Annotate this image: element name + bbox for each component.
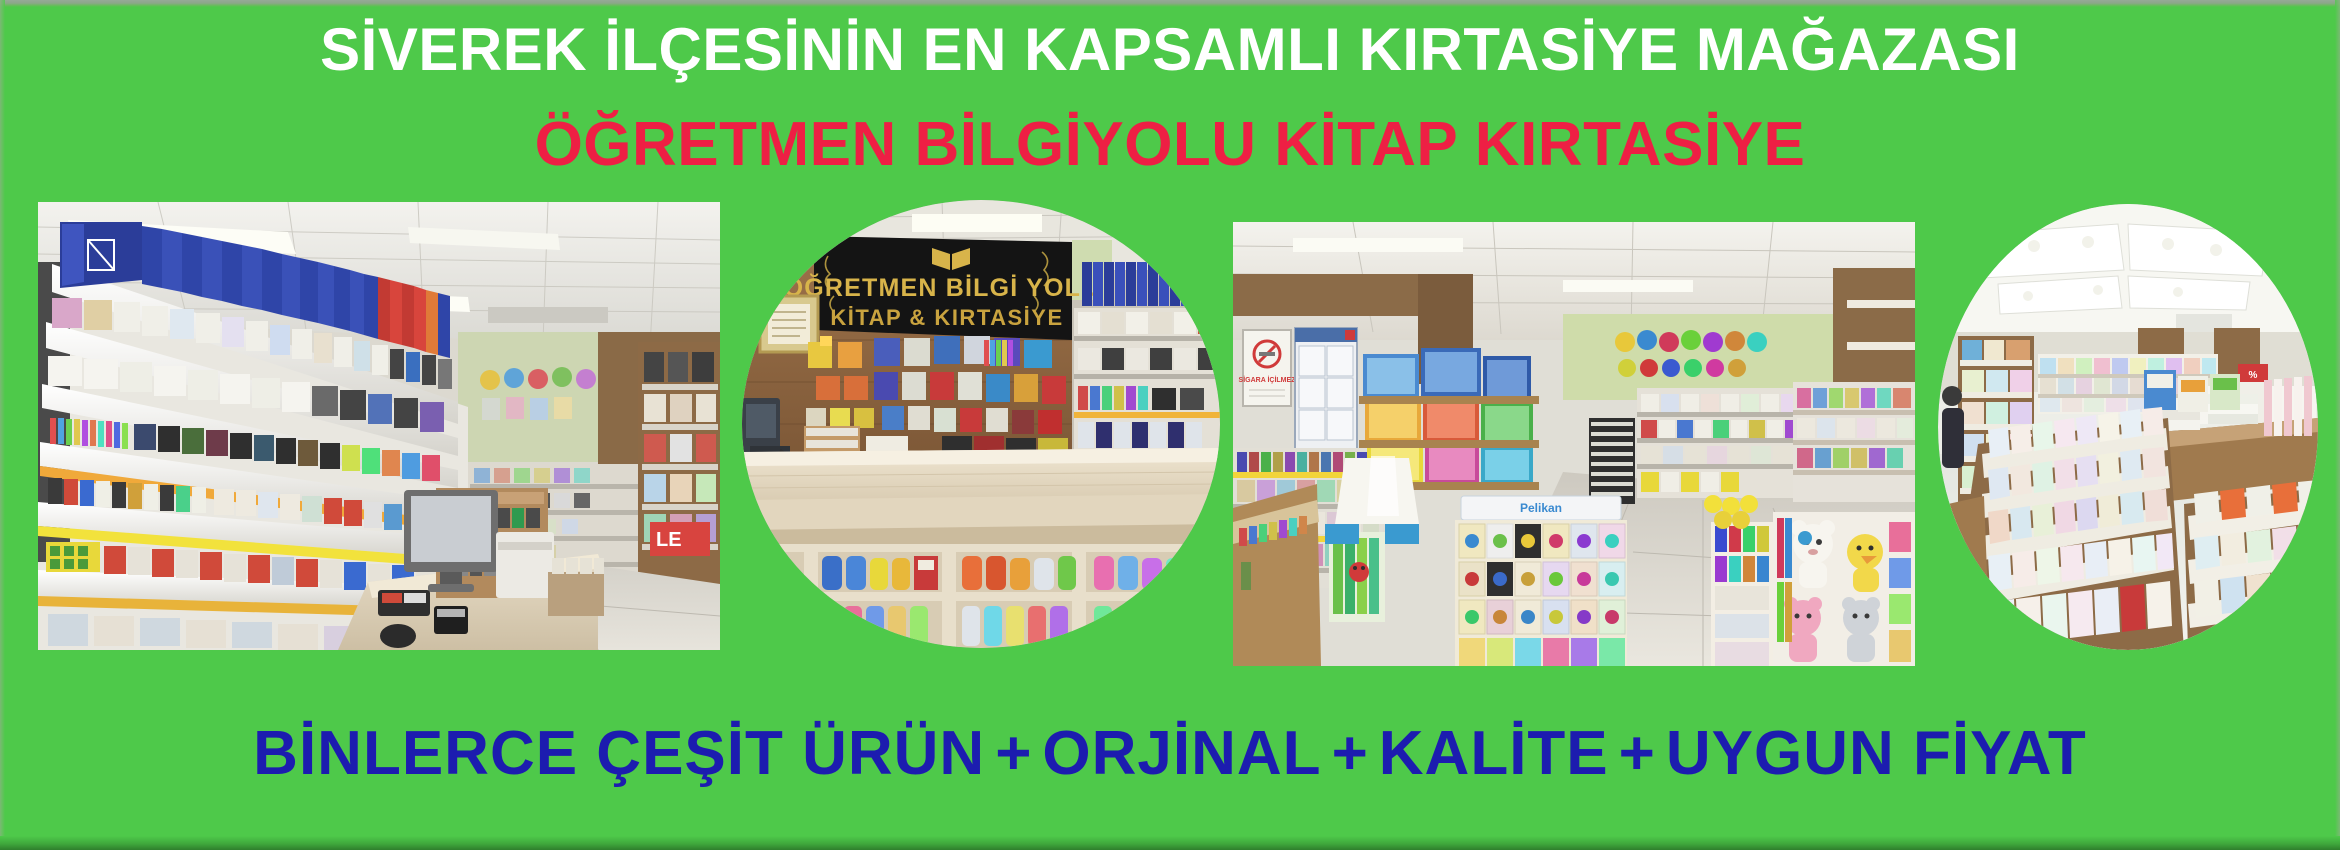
tagline-part-2: ORJİNAL (1042, 719, 1321, 788)
store-photo-stationery-aisle: LE (38, 202, 720, 650)
svg-text:LE: LE (656, 529, 682, 551)
svg-text:%: % (2249, 370, 2258, 381)
advertisement-banner: SİVEREK İLÇESİNİN EN KAPSAMLI KIRTASİYE … (0, 0, 2340, 850)
svg-text:Pelikan: Pelikan (1520, 501, 1562, 515)
headline-store-name: ÖĞRETMEN BİLGİYOLU KİTAP KIRTASİYE (0, 110, 2340, 180)
store-photo-counter-sign: ÖĞRETMEN BİLGİ YOLU KİTAP & KIRTASİYE (742, 200, 1220, 648)
counter-sign-illustration: ÖĞRETMEN BİLGİ YOLU KİTAP & KIRTASİYE (742, 200, 1220, 648)
banner-top-edge (0, 0, 2340, 7)
tagline-block: BİNLERCE ÇEŞİT ÜRÜN+ORJİNAL+KALİTE+UYGUN… (0, 718, 2340, 790)
svg-text:SİGARA İÇİLMEZ: SİGARA İÇİLMEZ (1239, 376, 1297, 384)
stationery-aisle-illustration: LE (38, 202, 720, 650)
book-section-illustration: % (1938, 204, 2318, 650)
svg-text:KİTAP & KIRTASİYE: KİTAP & KIRTASİYE (830, 305, 1063, 330)
tagline-separator-3: + (1609, 719, 1666, 788)
tagline-part-4: UYGUN FİYAT (1666, 719, 2087, 788)
tagline-separator-1: + (985, 719, 1042, 788)
tagline-separator-2: + (1322, 719, 1379, 788)
svg-text:ÖĞRETMEN BİLGİ YOLU: ÖĞRETMEN BİLGİ YOLU (784, 273, 1101, 302)
store-photo-toy-aisle: SİGARA İÇİLMEZ (1233, 222, 1915, 666)
banner-bottom-edge (0, 836, 2340, 850)
headline-primary: SİVEREK İLÇESİNİN EN KAPSAMLI KIRTASİYE … (0, 16, 2340, 84)
store-photo-book-section: % (1938, 204, 2318, 650)
tagline-part-1: BİNLERCE ÇEŞİT ÜRÜN (253, 719, 985, 788)
toy-aisle-illustration: SİGARA İÇİLMEZ (1233, 222, 1915, 666)
tagline-part-3: KALİTE (1379, 719, 1609, 788)
